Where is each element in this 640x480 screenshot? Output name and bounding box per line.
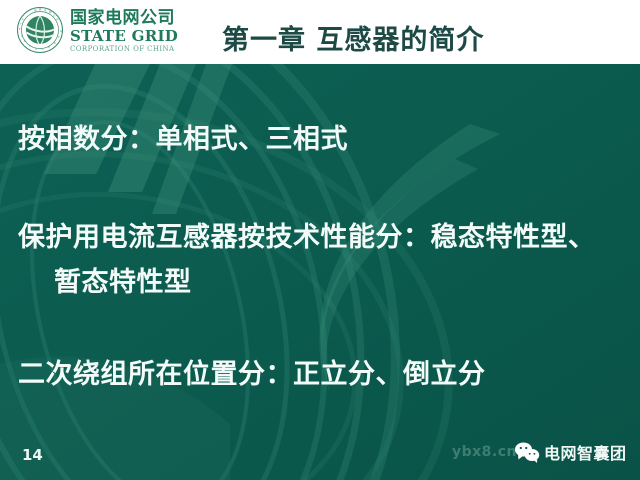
- page-number: 14: [22, 446, 43, 464]
- logo-name-cn: 国家电网公司: [70, 10, 178, 27]
- state-grid-globe-emblem: 国家电 网公司 ATE GRI DCO RPN: [16, 6, 64, 54]
- slide-body: 按相数分：单相式、三相式 保护用电流互感器按技术性能分：稳态特性型、 暂态特性型…: [0, 64, 640, 480]
- slide-header: 国家电 网公司 ATE GRI DCO RPN 国家电网公司 STATE GRI…: [0, 0, 640, 64]
- logo-name-en: STATE GRID: [70, 29, 178, 44]
- svg-text:D: D: [35, 48, 37, 51]
- slide: 国家电 网公司 ATE GRI DCO RPN 国家电网公司 STATE GRI…: [0, 0, 640, 480]
- bullet-line-2: 保护用电流互感器按技术性能分：稳态特性型、: [18, 215, 596, 254]
- svg-text:O: O: [48, 46, 50, 49]
- page-title: 第一章 互感器的简介: [222, 18, 484, 57]
- state-grid-wordmark: 国家电网公司 STATE GRID CORPORATION OF CHINA: [70, 8, 178, 53]
- watermark-url: ybx8.cn: [452, 444, 517, 460]
- watermark-account-name: 电网智囊团: [544, 440, 627, 464]
- svg-text:E: E: [19, 28, 21, 31]
- svg-text:N: N: [60, 30, 62, 33]
- bullet-line-2-continuation: 暂态特性型: [54, 260, 192, 299]
- wechat-icon: [513, 440, 541, 464]
- state-grid-logo: 国家电 网公司 ATE GRI DCO RPN 国家电网公司 STATE GRI…: [16, 6, 178, 54]
- svg-text:G: G: [21, 35, 23, 38]
- svg-text:R: R: [54, 42, 56, 45]
- bullet-line-3: 二次绕组所在位置分：正立分、倒立分: [18, 352, 486, 391]
- svg-text:P: P: [58, 36, 60, 39]
- bullet-list: 按相数分：单相式、三相式 保护用电流互感器按技术性能分：稳态特性型、 暂态特性型…: [0, 64, 640, 480]
- bullet-line-1: 按相数分：单相式、三相式: [18, 117, 348, 156]
- watermark: ybx8.cn 电网智囊团: [452, 435, 627, 469]
- logo-subtitle-en: CORPORATION OF CHINA: [70, 46, 178, 53]
- svg-text:国: 国: [34, 8, 37, 12]
